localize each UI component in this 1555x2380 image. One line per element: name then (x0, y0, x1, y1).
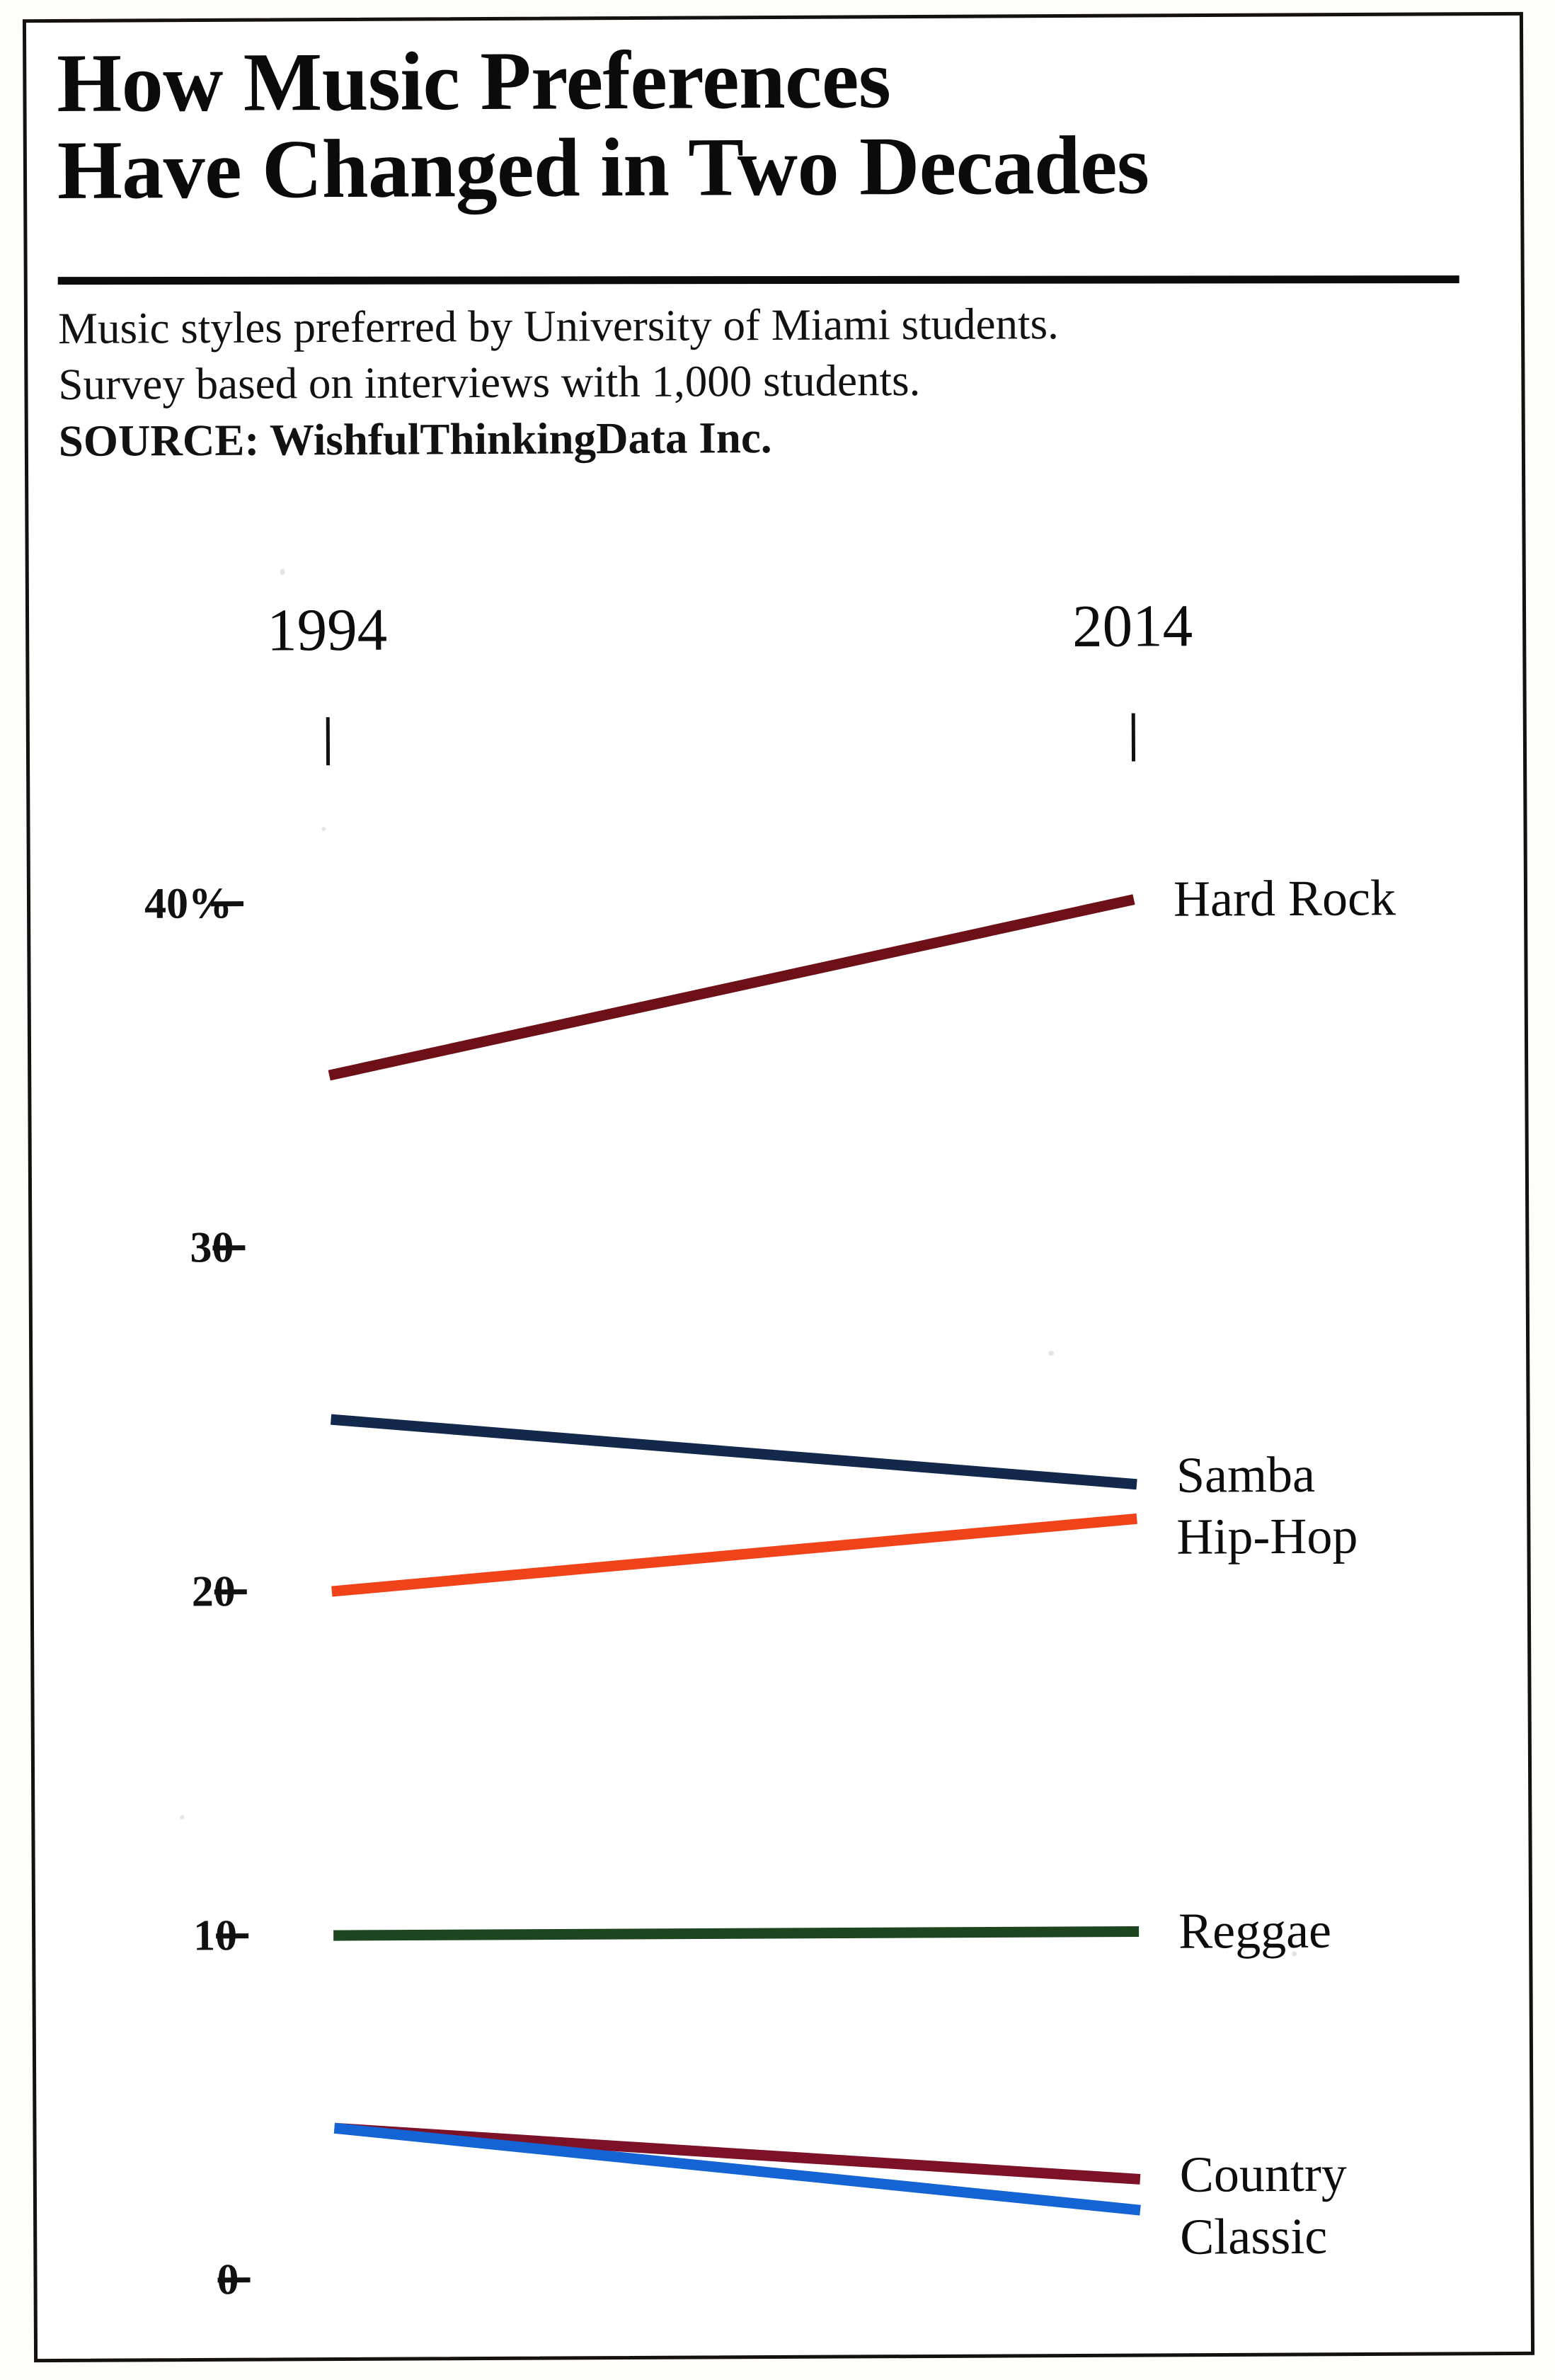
paper-speck (1292, 1951, 1297, 1956)
series-label-hip-hop: Hip-Hop (1176, 1506, 1358, 1566)
series-label-hard-rock: Hard Rock (1174, 869, 1396, 929)
series-label-reggae: Reggae (1178, 1901, 1331, 1961)
series-line-hip-hop (331, 1518, 1137, 1591)
series-label-country: Country (1180, 2144, 1347, 2204)
series-line-hard-rock (328, 900, 1135, 1076)
series-label-samba: Samba (1176, 1446, 1315, 1505)
chart-plot-area: 1994 2014 40% 30 20 10 0 Hard Rock Samba… (0, 0, 1555, 2380)
paper-speck (321, 827, 326, 831)
chart-clipping: How Music Preferences Have Changed in Tw… (0, 0, 1555, 2380)
series-line-samba (331, 1416, 1137, 1489)
paper-speck (180, 1815, 184, 1819)
series-line-reggae (333, 1932, 1139, 1936)
series-label-classic: Classic (1180, 2207, 1327, 2266)
paper-speck (1048, 1351, 1054, 1356)
series-lines-svg (0, 0, 1555, 2380)
paper-speck (280, 568, 285, 575)
